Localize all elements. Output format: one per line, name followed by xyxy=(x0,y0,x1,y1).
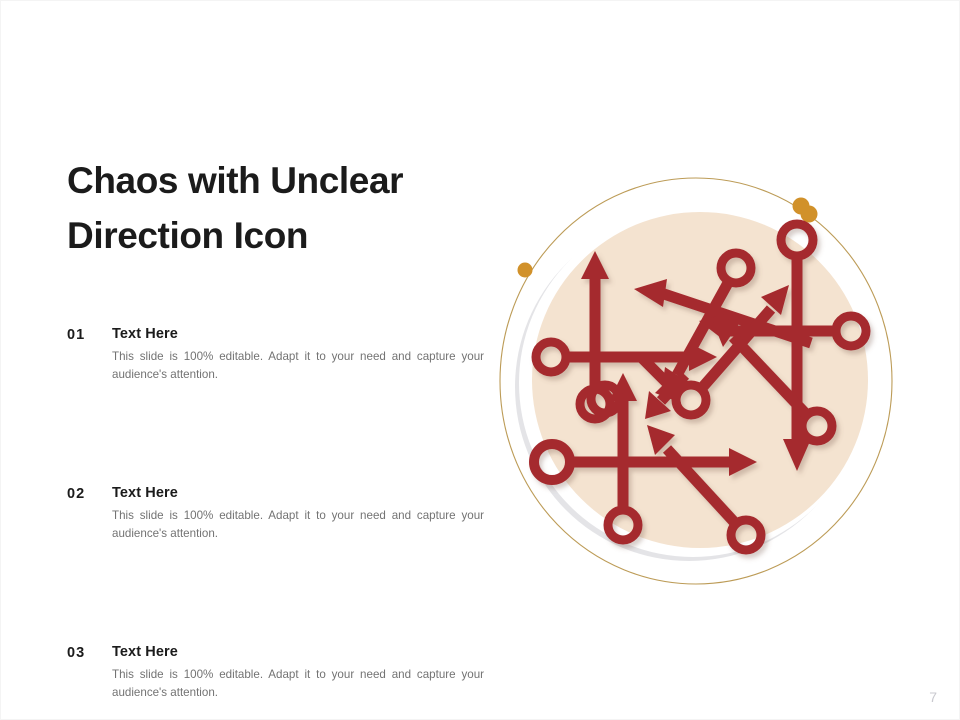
chaos-unclear-direction-icon xyxy=(489,161,919,601)
bullet-number: 01 xyxy=(67,327,109,343)
orbit-dot-left xyxy=(518,263,533,278)
bullet-body: Text Here This slide is 100% editable. A… xyxy=(112,485,487,543)
bullet-number: 03 xyxy=(67,645,109,661)
page-title-line-2: Direction Icon xyxy=(67,215,308,256)
page-title-line-1: Chaos with Unclear xyxy=(67,160,403,201)
bullet-body: Text Here This slide is 100% editable. A… xyxy=(112,326,487,384)
page-number: 7 xyxy=(929,689,937,705)
bullet-heading: Text Here xyxy=(112,326,487,342)
bullet-text: This slide is 100% editable. Adapt it to… xyxy=(112,348,484,384)
bullet-heading: Text Here xyxy=(112,644,487,660)
bullet-text: This slide is 100% editable. Adapt it to… xyxy=(112,507,484,543)
list-item: 03 Text Here This slide is 100% editable… xyxy=(67,644,487,702)
bullet-number: 02 xyxy=(67,486,109,502)
disc-fill xyxy=(532,212,868,548)
bullet-body: Text Here This slide is 100% editable. A… xyxy=(112,644,487,702)
orbit-dot-top-right-b xyxy=(801,206,818,223)
bullet-heading: Text Here xyxy=(112,485,487,501)
bullet-list: 01 Text Here This slide is 100% editable… xyxy=(67,326,487,702)
page-title: Chaos with Unclear Direction Icon xyxy=(67,154,497,264)
list-item: 02 Text Here This slide is 100% editable… xyxy=(67,485,487,543)
slide: Chaos with Unclear Direction Icon 01 Tex… xyxy=(0,0,960,720)
list-item: 01 Text Here This slide is 100% editable… xyxy=(67,326,487,384)
bullet-text: This slide is 100% editable. Adapt it to… xyxy=(112,666,484,702)
